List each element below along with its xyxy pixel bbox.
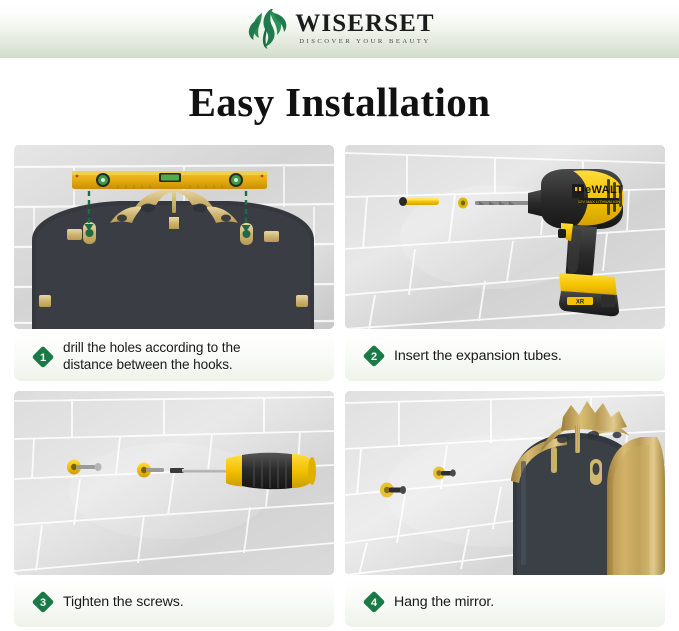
step-card-4: 4 Hang the mirror. xyxy=(345,391,665,631)
step-1-caption: 1 drill the holes according to the dista… xyxy=(14,331,334,381)
step-1-caption-text: drill the holes according to the distanc… xyxy=(63,340,240,372)
step-card-3: 3 Tighten the screws. xyxy=(14,391,334,631)
svg-text:3: 3 xyxy=(40,597,46,609)
svg-text:4: 4 xyxy=(371,597,378,609)
svg-text:1: 1 xyxy=(40,352,46,364)
svg-text:DeWALT: DeWALT xyxy=(577,184,624,196)
step-number-badge-icon: 3 xyxy=(32,591,54,613)
woman-profile-leaf-logo-icon xyxy=(244,7,288,49)
svg-text:12V MAX LITHIUM ION: 12V MAX LITHIUM ION xyxy=(578,199,620,204)
caption-line-1: drill the holes according to the xyxy=(63,340,240,355)
step-3-photo xyxy=(14,391,334,575)
brand-tagline: DISCOVER YOUR BEAUTY xyxy=(299,38,430,45)
step-4-photo xyxy=(345,391,665,575)
step-3-caption: 3 Tighten the screws. xyxy=(14,577,334,627)
step-1-photo xyxy=(14,145,334,329)
brand-logo: WISERSET DISCOVER YOUR BEAUTY xyxy=(244,7,434,49)
step-number-badge-icon: 2 xyxy=(363,345,385,367)
steps-grid: 1 drill the holes according to the dista… xyxy=(14,145,665,631)
page-title: Easy Installation xyxy=(0,78,679,126)
step-2-caption: 2 Insert the expansion tubes. xyxy=(345,331,665,381)
brand-header: WISERSET DISCOVER YOUR BEAUTY xyxy=(0,0,679,58)
svg-text:XR: XR xyxy=(576,300,585,306)
step-card-1: 1 drill the holes according to the dista… xyxy=(14,145,334,385)
svg-text:2: 2 xyxy=(371,351,377,363)
step-2-caption-text: Insert the expansion tubes. xyxy=(394,348,562,365)
step-4-caption-text: Hang the mirror. xyxy=(394,594,494,611)
installation-infographic: WISERSET DISCOVER YOUR BEAUTY Easy Insta… xyxy=(0,0,679,631)
caption-line-2: distance between the hooks. xyxy=(63,357,233,372)
step-4-caption: 4 Hang the mirror. xyxy=(345,577,665,627)
step-number-badge-icon: 4 xyxy=(363,591,385,613)
step-number-badge-icon: 1 xyxy=(32,346,54,368)
brand-name: WISERSET xyxy=(295,11,434,37)
step-2-photo: DeWALT 12V MAX LITHIUM ION XR xyxy=(345,145,665,329)
step-card-2: DeWALT 12V MAX LITHIUM ION XR xyxy=(345,145,665,385)
step-3-caption-text: Tighten the screws. xyxy=(63,594,184,611)
